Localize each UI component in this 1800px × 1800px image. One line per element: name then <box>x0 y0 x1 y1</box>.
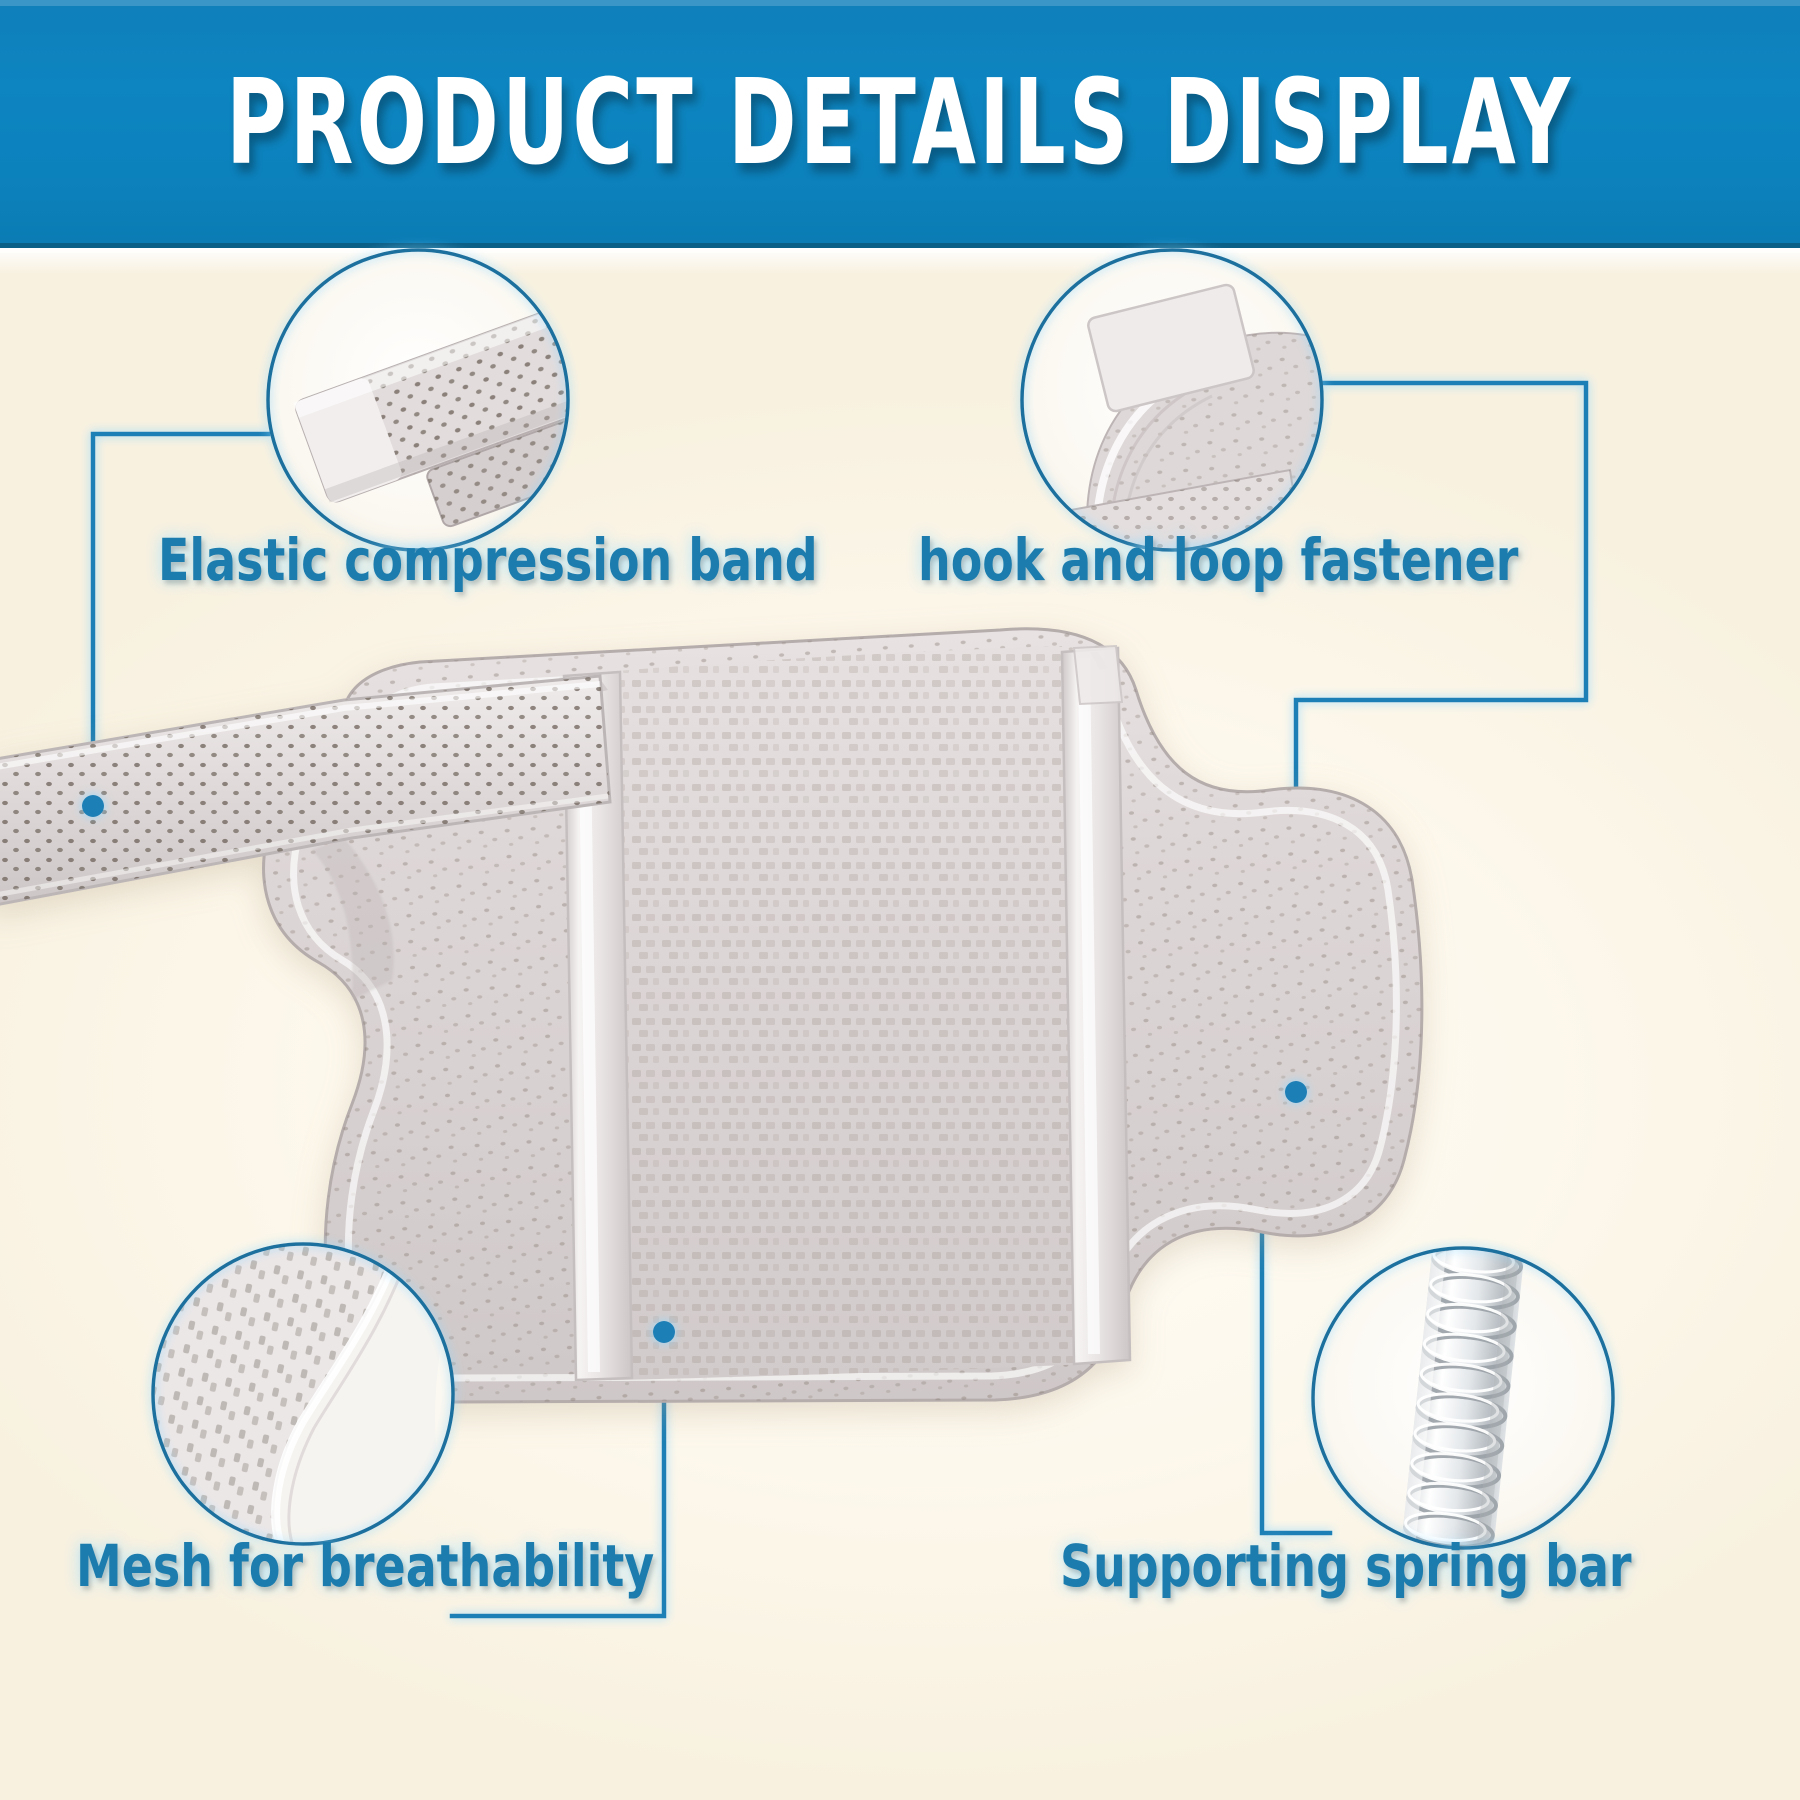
callout-label-hook-and-loop-fastener: hook and loop fastener <box>918 531 1518 589</box>
inset-circle-supporting-spring-bar <box>1313 1236 1613 1564</box>
marker-elastic-compression-band <box>82 795 104 817</box>
callout-label-elastic-compression-band: Elastic compression band <box>158 531 818 589</box>
hook-and-loop-patch <box>1074 646 1122 704</box>
callout-label-mesh-for-breathability: Mesh for breathability <box>76 1537 654 1595</box>
callout-label-supporting-spring-bar: Supporting spring bar <box>1060 1537 1632 1595</box>
spring-bar-channel-right <box>1062 648 1130 1364</box>
inset-circle-hook-and-loop-fastener <box>1022 250 1430 566</box>
inset-circle-mesh-for-breathability <box>150 1244 455 1548</box>
center-woven-texture <box>604 646 1088 1380</box>
inset-circle-elastic-compression-band <box>268 250 643 563</box>
product-diagram <box>0 0 1800 1800</box>
marker-hook-and-loop-fastener <box>1285 1081 1307 1103</box>
marker-mesh-for-breathability <box>653 1321 675 1343</box>
product-details-display-page: PRODUCT DETAILS DISPLAY <box>0 0 1800 1800</box>
